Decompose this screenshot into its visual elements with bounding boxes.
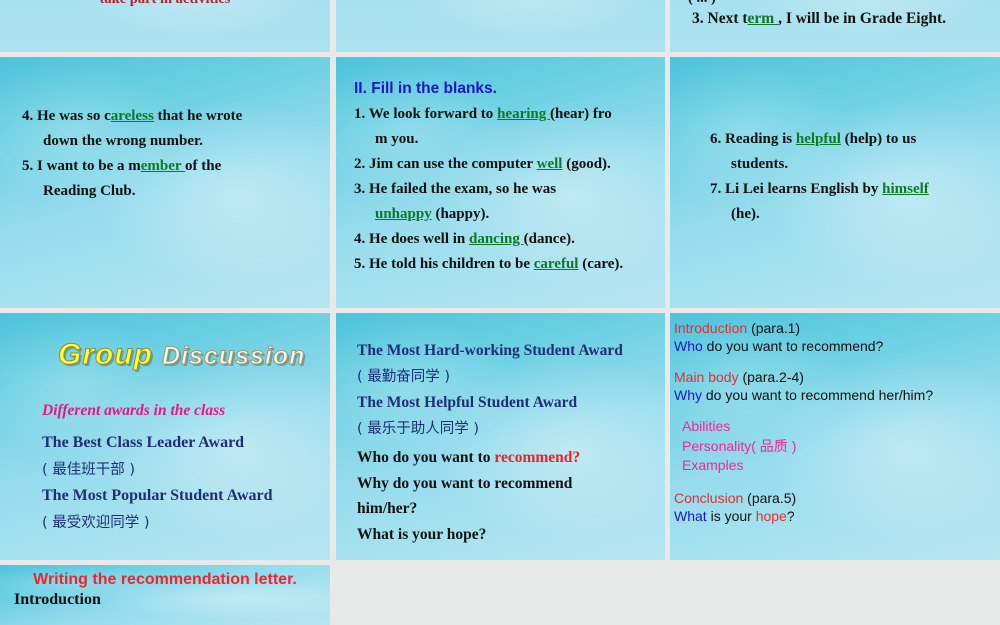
item-text-pre: Jim can use the computer (369, 156, 537, 172)
question-rest: do you want to recommend? (703, 338, 884, 354)
wordart-word-1: Group (58, 338, 153, 371)
item-number: 4. (22, 108, 33, 124)
item-number: 3. (354, 181, 365, 197)
item-answer: dancing (469, 231, 524, 247)
question-highlight: hope (756, 508, 787, 524)
slide-thumbnail-r2c2[interactable]: II. Fill in the blanks. 1. We look forwa… (336, 57, 665, 308)
outline-bullets: Abilities Personality( 品质 ) Examples (682, 417, 996, 476)
wordart-word-2: Discussion (162, 342, 305, 370)
list-item-continuation: unhappy (happy). (354, 202, 657, 227)
item-text-post: (good). (562, 156, 610, 172)
list-item: 6. Reading is helpful (help) to us (710, 127, 990, 152)
outline-section-conclusion: Conclusion (para.5) What is your hope? (674, 489, 996, 525)
item-text-pre: Li Lei learns English by (725, 181, 882, 197)
question-word: Who (674, 338, 703, 354)
bullet-item: Abilities (682, 417, 996, 437)
outline-line: Conclusion (para.5) (674, 489, 996, 507)
list-item: 4. He was so careless that he wrote (22, 104, 318, 129)
list-item: 5. He told his children to be careful (c… (354, 252, 657, 277)
list-item: 3. He failed the exam, so he was (354, 177, 657, 202)
bullet-item: Personality( 品质 ) (682, 437, 996, 457)
question-end: ? (787, 508, 795, 524)
list-item-continuation: (he). (710, 202, 990, 227)
letter-structure-outline: Introduction (para.1) Who do you want to… (674, 319, 996, 525)
item-answer: hearing (497, 106, 550, 122)
item-text-pre: He was so c (37, 108, 111, 124)
item-number: 1. (354, 106, 365, 122)
outline-section-main-body: Main body (para.2-4) Why do you want to … (674, 368, 996, 404)
item-text-post: (care). (578, 256, 623, 272)
question-1-pre: Who do you want to (357, 449, 494, 466)
slide-title: Writing the recommendation letter. (0, 571, 330, 589)
item-text-post: (dance). (524, 231, 575, 247)
outline-line: Main body (para.2-4) (674, 368, 996, 386)
exercise-list: 6. Reading is helpful (help) to us stude… (710, 127, 990, 227)
outline-question: What is your hope? (674, 507, 996, 525)
question-word: What (674, 508, 707, 524)
list-item-continuation: down the wrong number. (22, 129, 318, 154)
item-text-pre: He told his children to be (369, 256, 534, 272)
list-item-continuation: m you. (354, 127, 657, 152)
item-number: 7. (710, 181, 721, 197)
list-item-continuation: students. (710, 152, 990, 177)
item-text-pre: He does well in (369, 231, 469, 247)
section-paragraph-ref: (para.1) (751, 320, 800, 336)
outline-question: Who do you want to recommend? (674, 337, 996, 355)
item-text-pre: Reading is (725, 131, 796, 147)
item-text-pre: We look forward to (369, 106, 497, 122)
exercise-list: 4. He was so careless that he wrote down… (22, 104, 318, 204)
question-rest: do you want to recommend her/him? (702, 387, 933, 403)
item-text-post: (help) to us (841, 131, 916, 147)
list-item: 2. Jim can use the computer well (good). (354, 152, 657, 177)
awards-subtitle: Different awards in the class (42, 402, 225, 420)
question-mid: is your (707, 508, 756, 524)
item-text-post: (hear) fro (550, 106, 612, 122)
section-label: Conclusion (674, 490, 743, 506)
slide-thumbnail-grid: take part in activities ( ... ) 3. Next … (0, 0, 1000, 600)
question-1-highlight: recommend? (494, 449, 580, 466)
list-item-continuation: Reading Club. (22, 179, 318, 204)
item-answer: careful (534, 256, 579, 272)
slide-thumbnail-r2c3[interactable]: 6. Reading is helpful (help) to us stude… (670, 57, 1000, 308)
item-number: 2. (354, 156, 365, 172)
question-word: Why (674, 387, 702, 403)
outline-line: Introduction (para.1) (674, 319, 996, 337)
section-paragraph-ref: (para.2-4) (742, 369, 803, 385)
item-text-pre: I want to be a m (37, 158, 141, 174)
item-number: 4. (354, 231, 365, 247)
clipped-text-line: take part in activities (0, 0, 330, 8)
item-text-post: of the (185, 158, 221, 174)
item-number: 3. (692, 10, 704, 27)
item-answer: unhappy (375, 206, 432, 222)
section-heading: II. Fill in the blanks. (354, 80, 497, 98)
item-answer: helpful (796, 131, 841, 147)
item-text-post: that he wrote (154, 108, 242, 124)
slide-thumbnail-r2c1[interactable]: 4. He was so careless that he wrote down… (0, 57, 330, 308)
exercise-item-3: 3. Next term , I will be in Grade Eight. (670, 10, 946, 28)
item-answer: ember (141, 158, 185, 174)
list-item: 7. Li Lei learns English by himself (710, 177, 990, 202)
section-label: Main body (674, 369, 739, 385)
outline-section-introduction: Introduction (para.1) Who do you want to… (674, 319, 996, 355)
list-item: 5. I want to be a member of the (22, 154, 318, 179)
item-text-pre: He failed the exam, so he was (369, 181, 556, 197)
item-answer: erm (748, 10, 779, 27)
list-item: 1. We look forward to hearing (hear) fro (354, 102, 657, 127)
slide-thumbnail-r1c2[interactable] (336, 0, 665, 52)
item-answer: himself (882, 181, 929, 197)
item-text-post: , I will be in Grade Eight. (778, 10, 946, 27)
slide-thumbnail-r1c1[interactable]: take part in activities (0, 0, 330, 52)
outline-question: Why do you want to recommend her/him? (674, 386, 996, 404)
item-number: 6. (710, 131, 721, 147)
exercise-list: 1. We look forward to hearing (hear) fro… (354, 102, 657, 277)
item-text-post: (happy). (432, 206, 490, 222)
bullet-item: Examples (682, 456, 996, 476)
list-item: 4. He does well in dancing (dance). (354, 227, 657, 252)
item-number: 5. (354, 256, 365, 272)
section-paragraph-ref: (para.5) (747, 490, 796, 506)
clipped-text-line: ( ... ) (670, 0, 1000, 7)
item-answer: areless (111, 108, 154, 124)
item-number: 5. (22, 158, 33, 174)
item-text-pre: Next t (708, 10, 748, 27)
item-answer: well (537, 156, 563, 172)
slide-thumbnail-r4c1[interactable]: Writing the recommendation letter. Intro… (0, 565, 330, 625)
wordart-group-discussion: GroupDiscussion (58, 338, 305, 372)
slide-thumbnail-r1c3[interactable]: ( ... ) 3. Next term , I will be in Grad… (670, 0, 1000, 52)
slide-subtitle: Introduction (14, 591, 101, 609)
section-label: Introduction (674, 320, 747, 336)
